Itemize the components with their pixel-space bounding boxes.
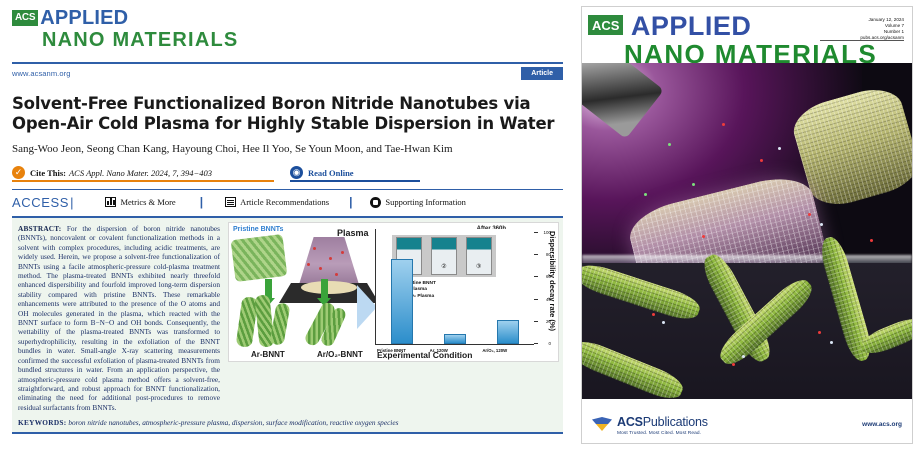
process-arrow-icon <box>357 285 377 329</box>
keywords-label: KEYWORDS: <box>18 418 67 427</box>
journal-cover-panel: ACS APPLIED NANO MATERIALS January 12, 2… <box>575 0 921 450</box>
toc-label-pristine: Pristine BNNTs <box>233 226 283 233</box>
article-first-page: ACS APPLIED NANO MATERIALS www.acsanm.or… <box>0 0 575 450</box>
journal-masthead: ACS APPLIED NANO MATERIALS <box>12 8 565 52</box>
keywords-value: boron nitride nanotubes, atmospheric-pre… <box>68 418 398 427</box>
toc-graphic: Pristine BNNTs Plasma Ar-B <box>228 222 559 362</box>
toc-ytick-label: 100 <box>543 230 551 235</box>
vial-2: ② <box>431 237 457 275</box>
read-online-button[interactable]: ◉ Read Online <box>290 165 420 182</box>
spark-dot <box>329 257 332 260</box>
acs-logo-chip: ACS <box>12 10 38 26</box>
toc-ytick-label: 80 <box>546 252 551 257</box>
acs-tagline: Most Trusted. Most Cited. Most Read. <box>617 431 708 436</box>
journal-url[interactable]: www.acsanm.org <box>12 69 71 78</box>
hydrogen-atom-dot <box>830 341 833 344</box>
reactive-species-dot <box>760 159 763 162</box>
supporting-information-link[interactable]: Supporting Information <box>370 197 466 208</box>
recommendations-label: Article Recommendations <box>240 197 329 207</box>
down-arrow-icon <box>321 279 328 299</box>
toc-xtick-3: Ar/O₂, 120W <box>482 348 507 353</box>
vial-3-label: ③ <box>467 263 491 270</box>
abstract-label: ABSTRACT: <box>18 224 61 233</box>
spark-dot <box>335 273 338 276</box>
check-circle-icon: ✓ <box>12 166 25 179</box>
oxygen-molecule-icon <box>692 183 695 186</box>
abstract-body: For the dispersion of boron nitride nano… <box>18 224 220 412</box>
access-label[interactable]: ACCESS <box>12 195 69 210</box>
toc-bar-1 <box>391 259 413 344</box>
spark-dot <box>319 267 322 270</box>
reactive-species-dot <box>652 313 655 316</box>
toc-chart-xlabel: Experimental Condition <box>377 350 472 360</box>
toc-ytick-label: 0 <box>548 341 551 346</box>
access-separator-2: | <box>349 195 352 209</box>
metrics-label: Metrics & More <box>120 197 175 207</box>
toc-ytick <box>534 343 538 344</box>
journal-url-row: www.acsanm.org Article <box>12 67 563 80</box>
acs-brand-bold: ACS <box>617 415 643 429</box>
cite-this-block[interactable]: ✓ Cite This: ACS Appl. Nano Mater. 2024,… <box>12 165 274 182</box>
reactive-species-dot <box>702 235 705 238</box>
author-list: Sang-Woo Jeon, Seong Chan Kang, Hayoung … <box>12 142 563 156</box>
cover-artwork <box>582 63 912 399</box>
info-circle-icon <box>370 197 381 208</box>
oxygen-molecule-icon <box>644 193 647 196</box>
reactive-species-dot <box>732 363 735 366</box>
acs-website-url[interactable]: www.acs.org <box>862 421 902 428</box>
toc-bar-2 <box>444 334 466 344</box>
cite-this-label: Cite This: <box>30 168 66 178</box>
toc-bar-3 <box>497 320 519 344</box>
reactive-species-dot <box>722 123 725 126</box>
metrics-and-more-link[interactable]: Metrics & More <box>105 197 175 207</box>
cover-issue-meta: January 12, 2024 Volume 7 Number 1 pubs.… <box>860 17 904 41</box>
reactive-species-dot <box>818 331 821 334</box>
vial-3: ③ <box>466 237 492 275</box>
spark-dot <box>313 247 316 250</box>
page-title: Solvent-Free Functionalized Boron Nitrid… <box>12 94 563 134</box>
article-type-badge: Article <box>521 67 563 80</box>
access-separator-1: | <box>200 195 203 209</box>
bar-chart-icon <box>105 197 116 207</box>
cite-this-value: ACS Appl. Nano Mater. 2024, 7, 394−403 <box>69 168 212 178</box>
toc-ytick <box>534 299 538 300</box>
acs-publications-logo: ACSPublications Most Trusted. Most Cited… <box>592 413 708 436</box>
vial-2-label: ② <box>432 263 456 270</box>
cover-footer: ACSPublications Most Trusted. Most Cited… <box>582 399 912 444</box>
toc-ytick-label: 40 <box>546 297 551 302</box>
acs-brand-thin: Publications <box>643 415 708 429</box>
read-online-label: Read Online <box>308 168 354 178</box>
oxygen-molecule-icon <box>668 143 671 146</box>
screenshot-root: ACS APPLIED NANO MATERIALS www.acsanm.or… <box>0 0 921 450</box>
acs-diamond-icon <box>592 417 612 431</box>
masthead-divider <box>12 62 563 64</box>
hydrogen-atom-dot <box>662 321 665 324</box>
cite-this-bar: ✓ Cite This: ACS Appl. Nano Mater. 2024,… <box>12 165 563 182</box>
toc-label-aro2-bnnt: Ar/O₂-BNNT <box>317 350 363 359</box>
toc-ytick <box>534 232 538 233</box>
read-online-icon: ◉ <box>290 166 303 179</box>
supporting-label: Supporting Information <box>385 197 466 207</box>
spark-dot <box>307 263 310 266</box>
ar-bnnt-tube <box>269 302 290 346</box>
toc-label-ar-bnnt: Ar-BNNT <box>251 350 285 359</box>
plasma-mouth-icon <box>301 281 357 294</box>
cover-acs-logo-chip: ACS <box>588 15 623 35</box>
masthead-nano-materials: NANO MATERIALS <box>42 30 565 51</box>
toc-ytick <box>534 254 538 255</box>
masthead-applied: APPLIED <box>40 8 128 28</box>
abstract-block: ABSTRACT: For the dispersion of boron ni… <box>12 216 563 434</box>
spark-dot <box>341 251 344 254</box>
toc-ytick-label: 60 <box>546 274 551 279</box>
hydrogen-atom-dot <box>742 355 745 358</box>
document-list-icon <box>225 197 236 207</box>
toc-ytick <box>534 321 538 322</box>
bnnt-bundle-icon <box>231 234 288 282</box>
access-bar: ACCESS | Metrics & More | Article Recomm… <box>12 194 563 210</box>
cover-masthead: ACS APPLIED NANO MATERIALS January 12, 2… <box>582 7 912 63</box>
cover-masthead-applied: APPLIED <box>631 13 752 40</box>
access-divider <box>12 189 563 190</box>
access-pipe: | <box>70 195 73 210</box>
keywords-line: KEYWORDS: boron nitride nanotubes, atmos… <box>18 418 557 427</box>
reactive-species-dot <box>808 213 811 216</box>
reactive-species-dot <box>870 239 873 242</box>
journal-cover: ACS APPLIED NANO MATERIALS January 12, 2… <box>581 6 913 444</box>
hydrogen-atom-dot <box>778 147 781 150</box>
abstract-text: ABSTRACT: For the dispersion of boron ni… <box>16 222 224 428</box>
article-recommendations-link[interactable]: Article Recommendations <box>225 197 329 207</box>
toc-bar-chart: ① ② ③ ① Pristine BNNT ② Ar Plasma ③ Ar/O… <box>375 229 534 345</box>
toc-label-plasma: Plasma <box>337 228 369 238</box>
toc-chart-ylabel: Dispersibility decay rate (%) <box>548 231 557 353</box>
hydrogen-atom-dot <box>820 223 823 226</box>
cover-journal-url: pubs.acs.org/acsanm <box>860 35 904 41</box>
toc-ytick <box>534 276 538 277</box>
toc-ytick-label: 20 <box>546 319 551 324</box>
